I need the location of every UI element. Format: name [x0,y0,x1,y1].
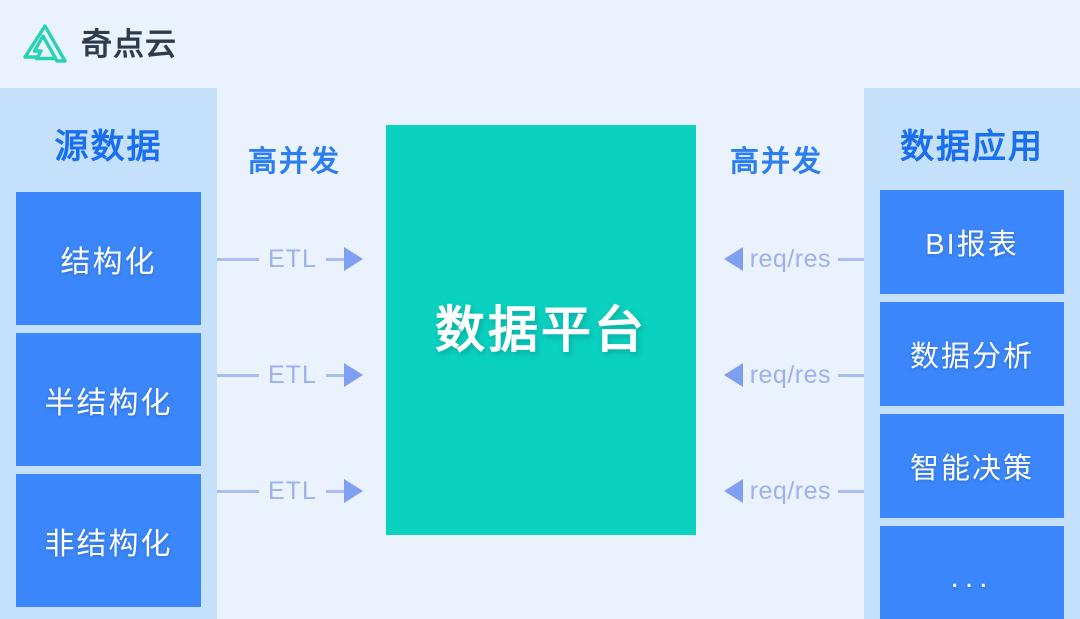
reqres-connector: req/res [696,358,864,392]
connector-label: req/res [743,479,838,504]
data-platform-label: 数据平台 [435,305,647,355]
right-flow-label: 高并发 [730,148,823,177]
page-header: 奇点云 [0,0,1080,88]
connector-line [217,490,259,493]
left-flow-label: 高并发 [248,148,341,177]
data-platform-box[interactable]: 数据平台 [386,125,696,535]
arrow-right-icon [344,363,363,387]
reqres-connector: req/res [696,474,864,508]
apps-panel-title: 数据应用 [900,130,1044,164]
app-card[interactable]: 智能决策 [880,414,1064,518]
connector-line [217,258,259,261]
etl-connector: ETL [217,358,386,392]
arrow-left-icon [724,479,743,503]
etl-connector: ETL [217,474,386,508]
source-data-panel: 源数据 结构化 半结构化 非结构化 [0,88,217,619]
arrow-right-icon [344,247,363,271]
arrow-left-icon [724,363,743,387]
reqres-connector: req/res [696,242,864,276]
arrow-left-icon [724,247,743,271]
source-card[interactable]: 非结构化 [16,474,201,607]
connector-label: req/res [743,363,838,388]
data-application-panel: 数据应用 BI报表 数据分析 智能决策 ... [864,88,1080,619]
singularity-triangle-logo-icon [22,24,68,64]
source-panel-title: 源数据 [55,130,163,164]
app-card[interactable]: BI报表 [880,190,1064,294]
source-card-list: 结构化 半结构化 非结构化 [0,192,217,607]
connector-line [326,374,344,377]
source-card[interactable]: 结构化 [16,192,201,325]
brand-logo[interactable]: 奇点云 [22,24,177,64]
connector-label: ETL [259,479,326,504]
connector-label: ETL [259,363,326,388]
connector-line [838,490,864,493]
app-card[interactable]: 数据分析 [880,302,1064,406]
arrow-right-icon [344,479,363,503]
connector-line [326,490,344,493]
apps-card-list: BI报表 数据分析 智能决策 ... [864,190,1080,619]
brand-name: 奇点云 [81,29,177,60]
etl-connector: ETL [217,242,386,276]
source-card[interactable]: 半结构化 [16,333,201,466]
connector-label: ETL [259,247,326,272]
connector-line [838,258,864,261]
connector-label: req/res [743,247,838,272]
app-card-more[interactable]: ... [880,526,1064,619]
connector-line [838,374,864,377]
connector-line [326,258,344,261]
connector-line [217,374,259,377]
